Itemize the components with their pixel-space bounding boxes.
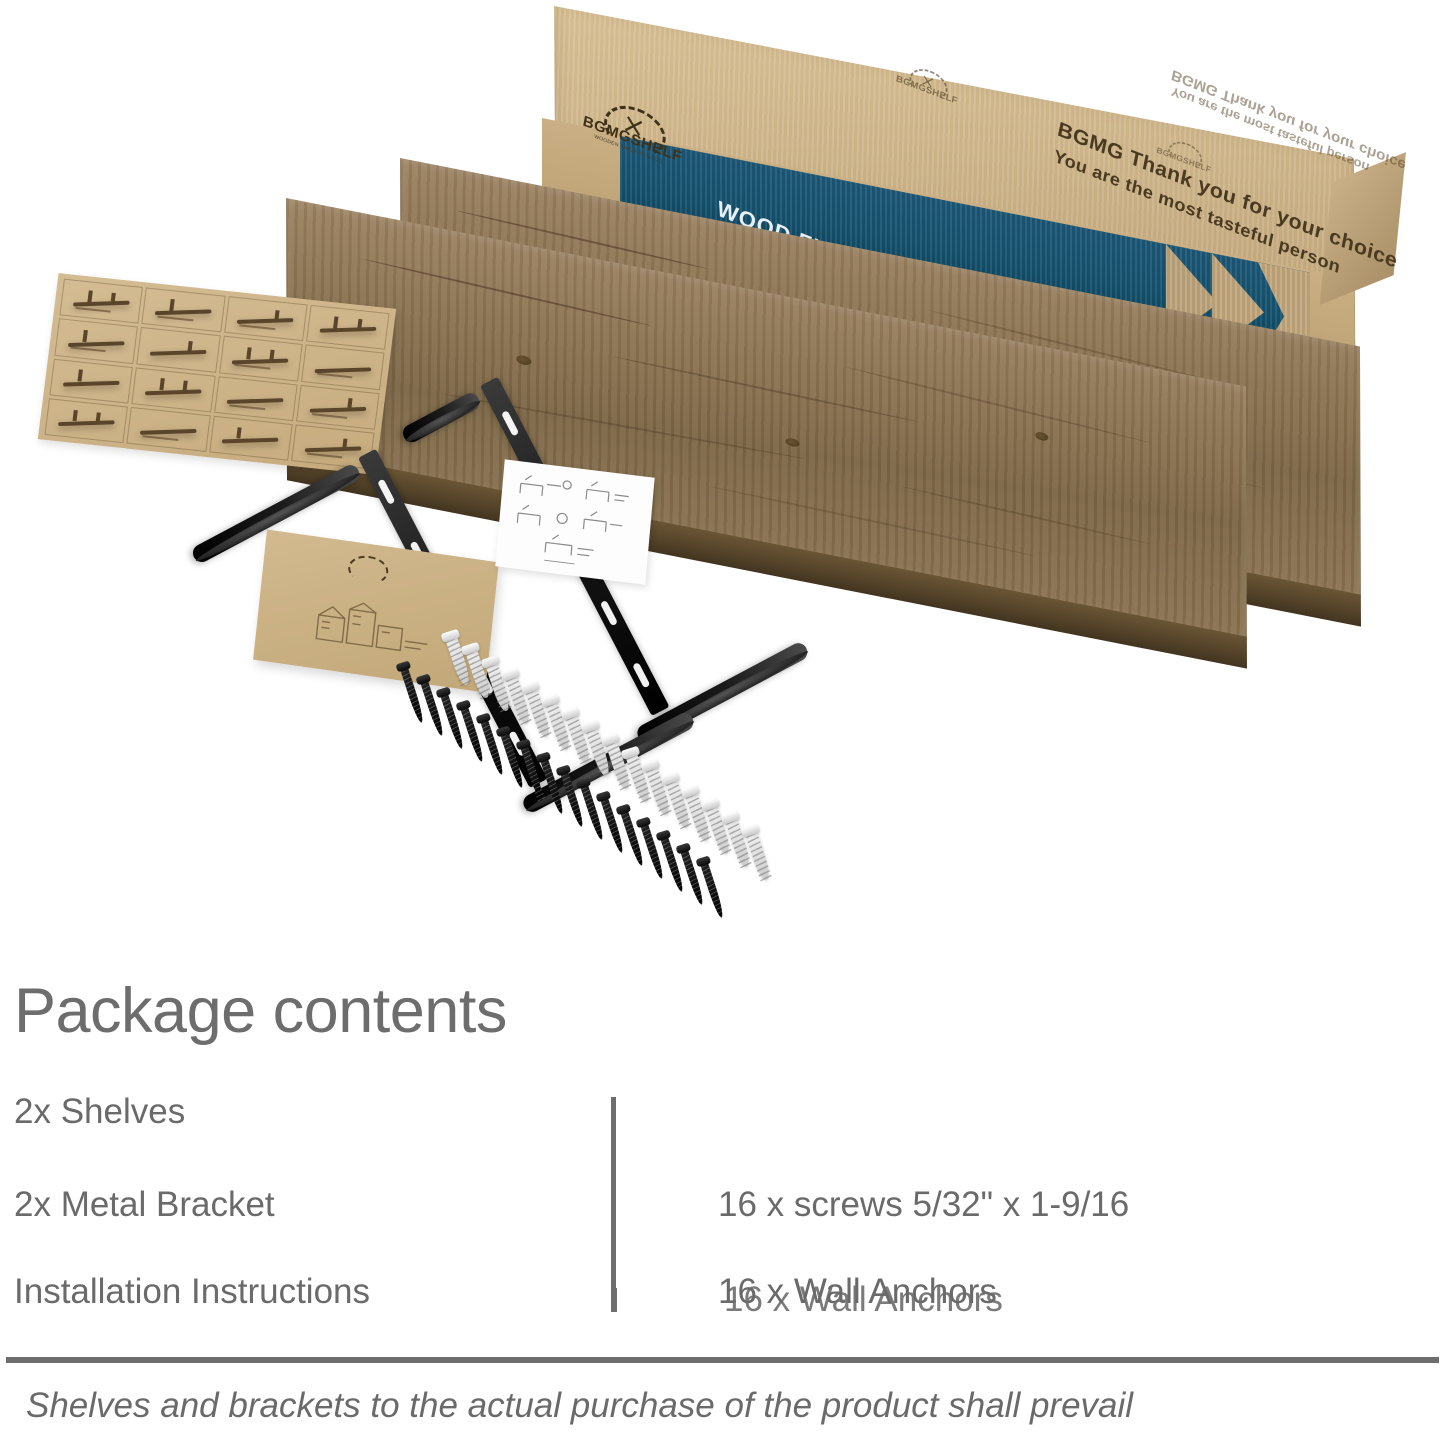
disclaimer-text: Shelves and brackets to the actual purch… [26, 1386, 1133, 1426]
screw [679, 844, 706, 905]
instruction-diagram-cell [54, 318, 138, 363]
screw [579, 779, 606, 840]
instruction-diagram-cell [306, 305, 390, 350]
instruction-diagram-cell [142, 287, 226, 332]
screw [599, 792, 626, 853]
bracket-slot [377, 479, 395, 505]
contents-item-installation-instructions: Installation Instructions [14, 1272, 370, 1312]
instruction-diagram-grid [44, 279, 389, 470]
vertical-divider [611, 1097, 616, 1310]
white-diagram-card [495, 459, 654, 584]
instruction-diagram-cell [132, 367, 216, 412]
card-diagrams-icon [506, 468, 644, 575]
instruction-diagram-cell [59, 279, 143, 324]
instruction-diagram-cell [49, 358, 133, 403]
page-title: Package contents [14, 975, 507, 1047]
instruction-diagram-cell [44, 398, 128, 443]
instruction-diagram-cell [296, 384, 380, 429]
instruction-diagram-cell [137, 327, 221, 372]
envelope-line-art-icon [307, 594, 443, 668]
contents-item-screws: 16 x screws 5/32" x 1-9/16 [718, 1185, 1129, 1225]
instruction-diagram-cell [219, 336, 303, 381]
wood-grain [363, 258, 651, 327]
vertical-divider-tail [611, 1288, 617, 1312]
contents-item-shelves: 2x Shelves [14, 1092, 185, 1132]
instruction-diagram-cell [214, 376, 298, 421]
instruction-diagram-cell [301, 345, 385, 390]
product-photo: BGMG Thank you for your choice You are t… [0, 0, 1445, 950]
instruction-sheet [38, 273, 396, 475]
envelope-logo-icon [347, 553, 390, 586]
wood-knot [517, 354, 532, 366]
instruction-diagram-cell [127, 407, 211, 452]
instruction-diagram-cell [224, 296, 308, 341]
screw [659, 831, 686, 892]
bracket-slot [501, 410, 519, 436]
contents-item-wall-anchors: 16 x Wall Anchors [718, 1272, 997, 1312]
contents-item-metal-bracket: 2x Metal Bracket [14, 1185, 275, 1225]
horizontal-rule [6, 1357, 1439, 1363]
screw [619, 805, 646, 866]
screw [699, 857, 726, 918]
product-image-canvas: BGMG Thank you for your choice You are t… [0, 0, 1445, 1441]
screw [639, 818, 666, 879]
